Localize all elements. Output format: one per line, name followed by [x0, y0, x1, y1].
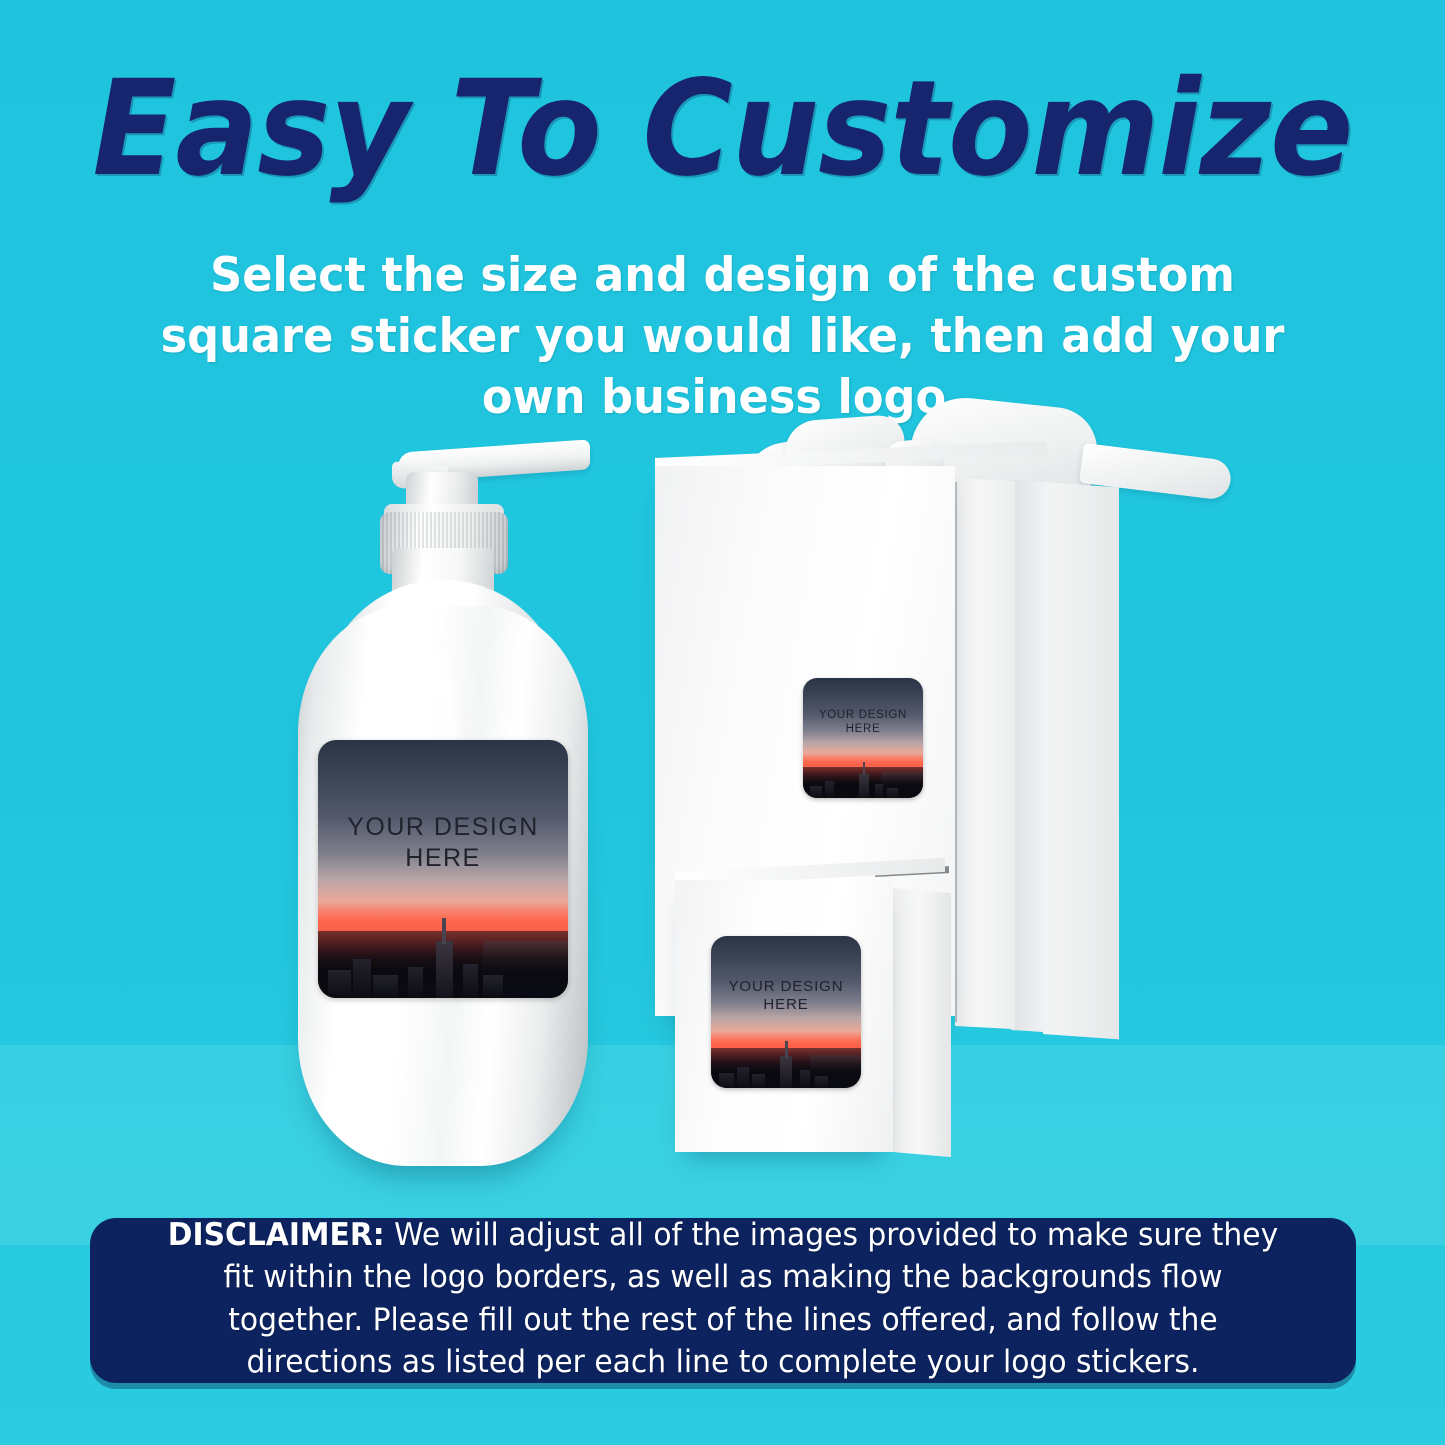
sticker-text: YOUR DESIGN HERE	[803, 708, 923, 736]
sticker-building	[825, 781, 835, 798]
gift-box-back-panel	[1043, 482, 1119, 1039]
sticker-building	[800, 1070, 811, 1088]
sticker-tower-spire	[442, 918, 446, 944]
sticker-building	[810, 786, 822, 798]
sticker-building	[752, 1074, 766, 1088]
sticker-building	[815, 1076, 829, 1088]
sticker-tower	[780, 1056, 792, 1088]
sticker-tower	[436, 941, 454, 998]
sticker-building	[353, 959, 371, 998]
sticker-building	[328, 970, 351, 998]
sticker-tower	[859, 774, 869, 798]
sticker-building	[483, 975, 503, 998]
disclaimer-banner: DISCLAIMER: We will adjust all of the im…	[90, 1218, 1356, 1383]
disclaimer-prefix: DISCLAIMER:	[168, 1217, 385, 1253]
sticker-building	[408, 967, 423, 998]
sticker-text: YOUR DESIGN HERE	[318, 812, 568, 873]
disclaimer-text: DISCLAIMER: We will adjust all of the im…	[158, 1214, 1289, 1383]
sticker-building	[875, 784, 883, 798]
sticker-text: YOUR DESIGN HERE	[711, 978, 861, 1015]
headline-container: Easy To Customize	[0, 62, 1445, 197]
sticker-tower-spire	[863, 762, 865, 775]
product-pump-bottle: YOUR DESIGN HERE	[280, 430, 610, 1170]
sticker-building	[887, 788, 898, 798]
gift-box-sticker: YOUR DESIGN HERE	[803, 678, 923, 798]
product-small-box: YOUR DESIGN HERE	[675, 862, 965, 1152]
sticker-building	[737, 1067, 749, 1088]
bottle-sticker-label: YOUR DESIGN HERE	[318, 740, 568, 998]
sticker-building	[719, 1073, 734, 1088]
sticker-building	[463, 964, 478, 998]
small-box-sticker: YOUR DESIGN HERE	[711, 936, 861, 1088]
sticker-tower-spire	[785, 1041, 788, 1058]
sticker-building	[373, 975, 398, 998]
page-title: Easy To Customize	[51, 62, 1395, 197]
gift-box-mid-panel	[1011, 480, 1047, 1032]
small-box-side-panel	[893, 888, 951, 1157]
